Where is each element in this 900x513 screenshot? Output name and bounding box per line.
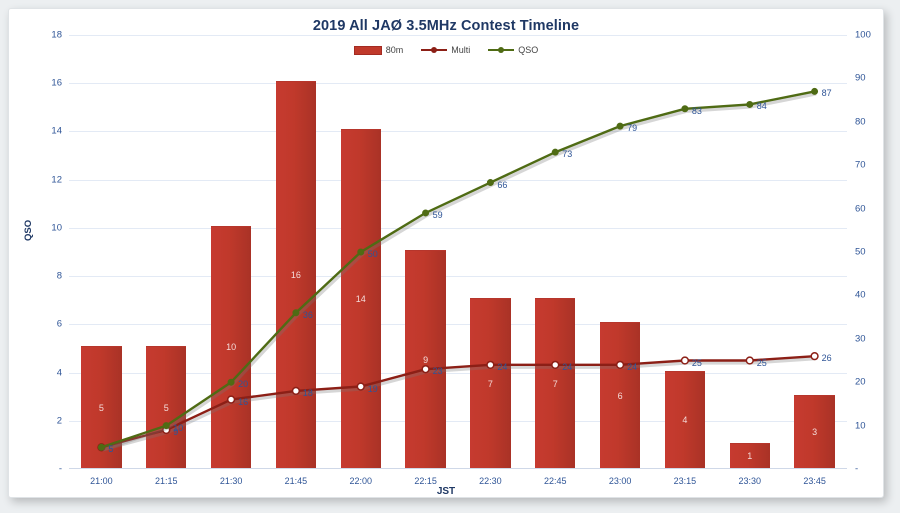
- data-point-value-label: 26: [822, 353, 832, 363]
- x-axis-tick-label: 23:30: [738, 476, 761, 486]
- data-point-marker[interactable]: [488, 180, 494, 186]
- data-point-marker[interactable]: [746, 357, 753, 364]
- plot-area: -24681012141618 -102030405060708090100 5…: [69, 35, 847, 469]
- data-point-value-label: 10: [173, 423, 183, 433]
- data-point-marker[interactable]: [358, 249, 364, 255]
- y-axis-left-tick-label: -: [59, 464, 62, 475]
- data-point-value-label: 59: [433, 210, 443, 220]
- data-point-marker[interactable]: [99, 445, 105, 451]
- y-axis-left-tick-label: 8: [57, 271, 62, 282]
- x-axis-tick-label: 22:45: [544, 476, 567, 486]
- data-point-marker[interactable]: [682, 357, 689, 364]
- y-axis-left-tick-label: 2: [57, 415, 62, 426]
- data-point-value-label: 84: [757, 101, 767, 111]
- line-qso: [101, 91, 814, 447]
- y-axis-left-tick-label: 12: [51, 174, 62, 185]
- y-axis-label: QSO: [23, 220, 34, 241]
- data-point-value-label: 24: [497, 362, 507, 372]
- data-point-marker[interactable]: [682, 106, 688, 112]
- y-axis-left-tick-label: 14: [51, 126, 62, 137]
- x-axis-tick-label: 21:00: [90, 476, 113, 486]
- y-axis-right-tick-label: -: [855, 464, 858, 475]
- data-point-value-label: 19: [368, 384, 378, 394]
- data-point-marker[interactable]: [552, 361, 559, 368]
- data-point-value-label: 5: [108, 444, 113, 454]
- data-point-value-label: 73: [562, 149, 572, 159]
- data-point-value-label: 25: [692, 358, 702, 368]
- data-point-value-label: 20: [238, 379, 248, 389]
- chart-card: 2019 All JAØ 3.5MHz Contest Timeline 80m…: [8, 8, 884, 498]
- data-point-marker[interactable]: [812, 89, 818, 95]
- data-point-value-label: 16: [238, 397, 248, 407]
- data-point-marker[interactable]: [228, 379, 234, 385]
- data-point-marker[interactable]: [228, 396, 235, 403]
- data-point-marker[interactable]: [617, 361, 624, 368]
- data-point-marker[interactable]: [293, 310, 299, 316]
- x-axis-tick-label: 21:15: [155, 476, 178, 486]
- data-point-marker[interactable]: [747, 102, 753, 108]
- data-point-value-label: 79: [627, 123, 637, 133]
- x-axis-tick-label: 22:30: [479, 476, 502, 486]
- data-point-marker[interactable]: [293, 387, 300, 394]
- y-axis-right-tick-label: 80: [855, 116, 866, 127]
- data-point-value-label: 18: [303, 388, 313, 398]
- y-axis-right-tick-label: 90: [855, 73, 866, 84]
- data-point-value-label: 36: [303, 310, 313, 320]
- data-point-marker[interactable]: [811, 353, 818, 360]
- data-point-marker[interactable]: [422, 366, 429, 373]
- line-series-overlay: [69, 35, 847, 469]
- y-axis-left-tick-label: 4: [57, 367, 62, 378]
- y-axis-right-tick-label: 60: [855, 203, 866, 214]
- data-point-value-label: 24: [627, 362, 637, 372]
- data-point-marker[interactable]: [357, 383, 364, 390]
- y-axis-right-tick-label: 40: [855, 290, 866, 301]
- y-axis-right-tick-label: 70: [855, 160, 866, 171]
- chart-title: 2019 All JAØ 3.5MHz Contest Timeline: [9, 18, 883, 34]
- x-axis-tick-label: 22:00: [349, 476, 372, 486]
- data-point-value-label: 66: [497, 180, 507, 190]
- x-axis-tick-label: 21:45: [285, 476, 308, 486]
- y-axis-right-tick-label: 100: [855, 30, 871, 41]
- x-axis-label: JST: [9, 486, 883, 497]
- y-axis-left-tick-label: 18: [51, 30, 62, 41]
- data-point-marker[interactable]: [163, 423, 169, 429]
- x-axis-tick-label: 23:15: [674, 476, 697, 486]
- y-axis-left-tick-label: 6: [57, 319, 62, 330]
- x-axis-tick-label: 23:00: [609, 476, 632, 486]
- data-point-marker[interactable]: [423, 210, 429, 216]
- data-point-marker[interactable]: [487, 361, 494, 368]
- data-point-value-label: 23: [433, 366, 443, 376]
- data-point-value-label: 83: [692, 106, 702, 116]
- data-point-marker[interactable]: [552, 149, 558, 155]
- data-point-value-label: 25: [757, 358, 767, 368]
- data-point-marker[interactable]: [617, 123, 623, 129]
- data-point-value-label: 87: [822, 88, 832, 98]
- data-point-value-label: 50: [368, 249, 378, 259]
- y-axis-left-tick-label: 16: [51, 78, 62, 89]
- data-point-value-label: 24: [562, 362, 572, 372]
- x-axis-tick-label: 23:45: [803, 476, 826, 486]
- y-axis-right-tick-label: 50: [855, 247, 866, 258]
- y-axis-left-tick-label: 10: [51, 222, 62, 233]
- x-axis-tick-label: 22:15: [414, 476, 437, 486]
- y-axis-right-tick-label: 10: [855, 420, 866, 431]
- y-axis-right-tick-label: 30: [855, 333, 866, 344]
- y-axis-right-tick-label: 20: [855, 377, 866, 388]
- x-axis-tick-label: 21:30: [220, 476, 243, 486]
